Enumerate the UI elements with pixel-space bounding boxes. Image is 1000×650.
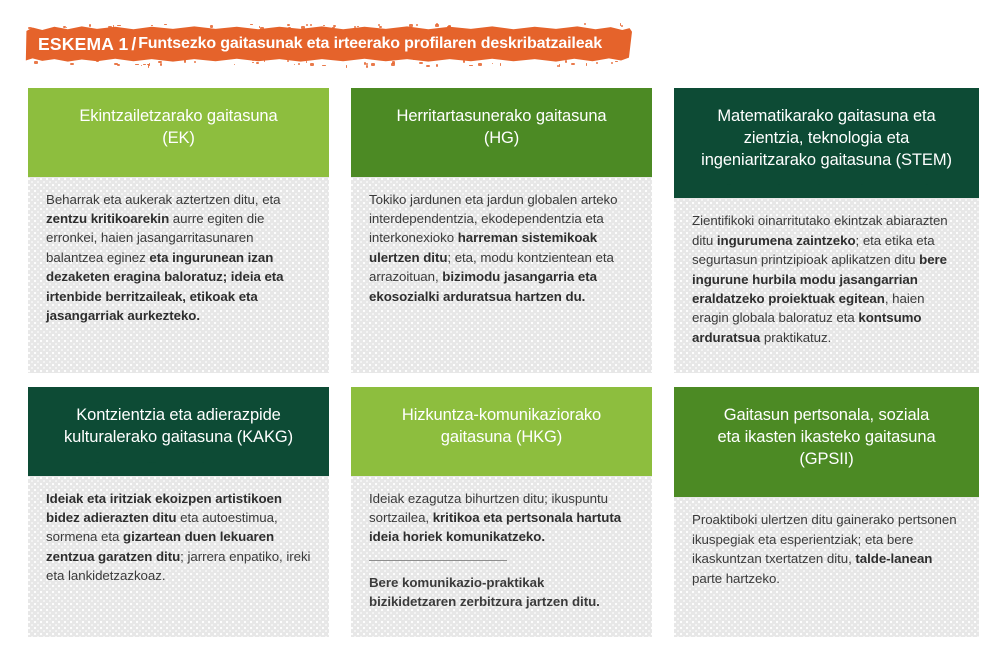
banner-speckle	[306, 61, 307, 63]
competency-card: Gaitasun pertsonala, sozialaeta ikasten …	[674, 387, 979, 637]
torn-edge	[674, 183, 979, 197]
banner-speckle	[96, 59, 99, 62]
banner-speckle	[611, 62, 613, 64]
card-header-line: (HG)	[484, 129, 519, 147]
banner-speckle	[34, 61, 38, 64]
banner-speckle	[478, 63, 482, 66]
banner-speckle	[565, 60, 567, 63]
competency-card: Hizkuntza-komunikaziorakogaitasuna (HKG)…	[351, 387, 652, 637]
card-header-title: Herritartasunerako gaitasuna(HG)	[367, 106, 636, 150]
card-body: Proaktiboki ulertzen ditu gainerako pert…	[674, 496, 979, 602]
card-header-title: Ekintzailetzarako gaitasuna(EK)	[44, 106, 313, 150]
torn-edge	[28, 162, 329, 176]
card-header-line: Kontzientzia eta adierazpide	[76, 406, 281, 424]
banner-title: Funtsezko gaitasunak eta irteerako profi…	[138, 35, 602, 53]
card-header-line: gaitasuna (HKG)	[441, 428, 562, 446]
card-body-paragraph: Beharrak eta aukerak aztertzen ditu, eta…	[46, 190, 311, 326]
banner-label: ESKEMA 1	[38, 34, 128, 55]
competency-card: Ekintzailetzarako gaitasuna(EK)Beharrak …	[28, 88, 329, 373]
banner-speckle	[435, 24, 439, 27]
banner-speckle	[535, 27, 537, 28]
banner-speckle	[346, 65, 347, 68]
card-body: Zientifikoki oinarritutako ekintzak abia…	[674, 197, 979, 361]
banner-speckle	[584, 23, 586, 24]
card-header-line: Matematikarako gaitasuna eta	[717, 107, 935, 125]
card-header-title: Matematikarako gaitasuna etazientzia, te…	[690, 106, 963, 171]
banner-speckle	[288, 27, 291, 30]
card-header: Ekintzailetzarako gaitasuna(EK)	[28, 88, 329, 176]
banner-speckle	[366, 65, 368, 68]
banner-speckle	[500, 63, 501, 66]
banner-speckle	[436, 64, 438, 66]
card-header: Herritartasunerako gaitasuna(HG)	[351, 88, 652, 176]
banner-speckle	[596, 62, 598, 64]
banner-speckle	[615, 61, 619, 63]
card-header-title: Gaitasun pertsonala, sozialaeta ikasten …	[690, 405, 963, 470]
banner-speckle	[621, 25, 623, 27]
card-header-line: Gaitasun pertsonala, soziala	[724, 406, 929, 424]
card-header-line: Hizkuntza-komunikaziorako	[402, 406, 601, 424]
banner-speckle	[426, 65, 429, 68]
banner-speckle	[210, 25, 213, 28]
banner-speckle	[66, 27, 67, 28]
banner-speckle	[70, 63, 74, 64]
card-header-title: Hizkuntza-komunikaziorakogaitasuna (HKG)	[367, 405, 636, 449]
competency-card: Herritartasunerako gaitasuna(HG)Tokiko j…	[351, 88, 652, 373]
banner-speckle	[141, 65, 142, 66]
card-body-paragraph: Ideiak eta iritziak ekoizpen artistikoen…	[46, 489, 311, 586]
banner-speckle	[322, 65, 326, 67]
card-body: Ideiak ezagutza bihurtzen ditu; ikuspunt…	[351, 475, 652, 626]
torn-edge	[351, 162, 652, 176]
competency-card-grid: Ekintzailetzarako gaitasuna(EK)Beharrak …	[28, 88, 980, 637]
banner-speckle	[463, 60, 465, 63]
card-body: Tokiko jardunen eta jardun globalen arte…	[351, 176, 652, 320]
card-body-paragraph: Zientifikoki oinarritutako ekintzak abia…	[692, 211, 961, 347]
card-header-line: ingeniaritzarako gaitasuna (STEM)	[701, 151, 952, 169]
banner: ESKEMA 1 / Funtsezko gaitasunak eta irte…	[24, 26, 632, 62]
banner-text: ESKEMA 1 / Funtsezko gaitasunak eta irte…	[24, 26, 632, 62]
banner-speckle	[298, 63, 299, 65]
banner-speckle	[294, 64, 295, 65]
banner-speckle	[234, 64, 236, 65]
card-header-line: kulturalerako gaitasuna (KAKG)	[64, 428, 293, 446]
banner-speckle	[318, 28, 319, 30]
card-header-line: (EK)	[162, 129, 195, 147]
banner-speckle	[148, 64, 149, 67]
banner-speckle	[379, 26, 382, 27]
competency-card: Kontzientzia eta adierazpidekulturalerak…	[28, 387, 329, 637]
banner-speckle	[492, 63, 493, 65]
card-body-paragraph: Ideiak ezagutza bihurtzen ditu; ikuspunt…	[369, 489, 634, 547]
card-header-line: (GPSII)	[799, 450, 853, 468]
banner-speckle	[113, 25, 115, 27]
competency-card: Matematikarako gaitasuna etazientzia, te…	[674, 88, 979, 373]
banner-speckle	[469, 65, 472, 66]
banner-speckle	[256, 62, 259, 64]
card-body-paragraph: Tokiko jardunen eta jardun globalen arte…	[369, 190, 634, 306]
card-header-line: Herritartasunerako gaitasuna	[397, 107, 607, 125]
card-body: Beharrak eta aukerak aztertzen ditu, eta…	[28, 176, 329, 340]
torn-edge	[674, 482, 979, 496]
banner-speckle	[571, 63, 574, 65]
banner-speckle	[391, 63, 395, 66]
banner-speckle	[371, 63, 375, 66]
card-header: Matematikarako gaitasuna etazientzia, te…	[674, 88, 979, 197]
banner-speckle	[419, 62, 423, 64]
card-header-line: Ekintzailetzarako gaitasuna	[79, 107, 277, 125]
card-header-line: zientzia, teknologia eta	[744, 129, 909, 147]
banner-speckle	[135, 64, 139, 65]
banner-speckle	[357, 26, 359, 27]
banner-speckle	[143, 64, 145, 65]
card-header: Gaitasun pertsonala, sozialaeta ikasten …	[674, 387, 979, 496]
banner-speckle	[286, 28, 287, 30]
banner-speckle	[323, 25, 325, 26]
card-header: Hizkuntza-komunikaziorakogaitasuna (HKG)	[351, 387, 652, 475]
card-body-paragraph-secondary: Bere komunikazio-praktikak bizikidetzare…	[369, 573, 634, 612]
card-body-paragraph: Proaktiboki ulertzen ditu gainerako pert…	[692, 510, 961, 588]
banner-speckle	[301, 26, 305, 29]
card-header-title: Kontzientzia eta adierazpidekulturalerak…	[44, 405, 313, 449]
banner-speckle	[416, 24, 419, 25]
torn-edge	[28, 461, 329, 475]
banner-speckle	[310, 63, 314, 66]
torn-edge	[351, 461, 652, 475]
card-body: Ideiak eta iritziak ekoizpen artistikoen…	[28, 475, 329, 600]
banner-separator: /	[128, 34, 138, 55]
banner-speckle	[28, 27, 32, 29]
card-header: Kontzientzia eta adierazpidekulturalerak…	[28, 387, 329, 475]
banner-speckle	[160, 63, 162, 66]
banner-speckle	[194, 61, 196, 63]
banner-speckle	[586, 63, 587, 66]
banner-speckle	[117, 25, 120, 26]
banner-speckle	[250, 24, 253, 25]
banner-speckle	[252, 62, 255, 64]
card-header-line: eta ikasten ikasteko gaitasuna	[717, 428, 935, 446]
card-divider	[369, 560, 507, 561]
banner-speckle	[260, 27, 264, 30]
